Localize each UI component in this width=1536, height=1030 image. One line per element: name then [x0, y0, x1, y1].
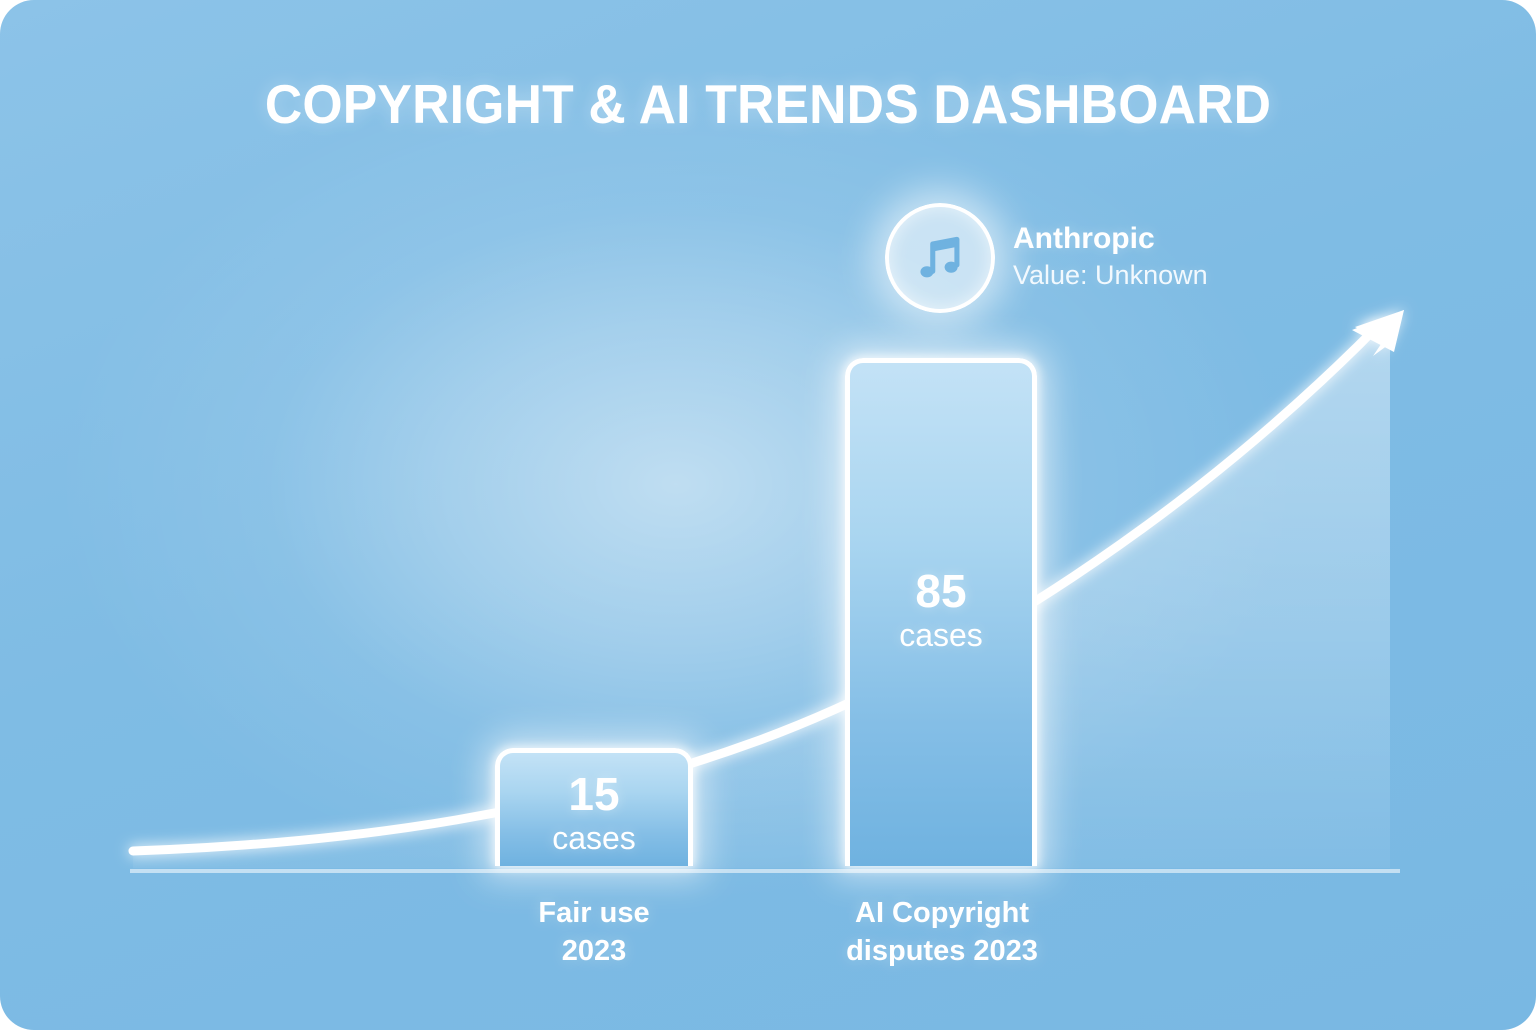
- bar-label-group: 85 cases: [850, 568, 1032, 657]
- category-label-ai-copyright: AI Copyright disputes 2023: [782, 894, 1102, 971]
- annotation-subtitle: Value: Unknown: [1013, 258, 1208, 293]
- trend-chart-layer: [0, 0, 1536, 1030]
- annotation-text: Anthropic Value: Unknown: [1013, 221, 1208, 295]
- category-label-line1: AI Copyright: [782, 894, 1102, 932]
- bar-value: 15: [500, 771, 688, 817]
- bar-unit: cases: [850, 614, 1032, 657]
- dashboard-canvas: COPYRIGHT & AI TRENDS DASHBOARD Anthropi…: [0, 0, 1536, 1030]
- bar-value: 85: [850, 568, 1032, 614]
- bar-fair-use-2023[interactable]: 15 cases: [495, 748, 693, 866]
- page-title: COPYRIGHT & AI TRENDS DASHBOARD: [46, 74, 1490, 135]
- bar-label-group: 15 cases: [500, 771, 688, 860]
- music-note-icon: [885, 203, 995, 313]
- trend-area-fill: [133, 322, 1390, 868]
- bar-ai-copyright-disputes-2023[interactable]: 85 cases: [845, 358, 1037, 866]
- category-label-line1: Fair use: [434, 894, 754, 932]
- annotation-badge[interactable]: Anthropic Value: Unknown: [885, 203, 1208, 313]
- annotation-title: Anthropic: [1013, 221, 1208, 258]
- category-label-line2: 2023: [434, 932, 754, 970]
- bar-unit: cases: [500, 817, 688, 860]
- category-label-line2: disputes 2023: [782, 932, 1102, 970]
- category-label-fair-use: Fair use 2023: [434, 894, 754, 971]
